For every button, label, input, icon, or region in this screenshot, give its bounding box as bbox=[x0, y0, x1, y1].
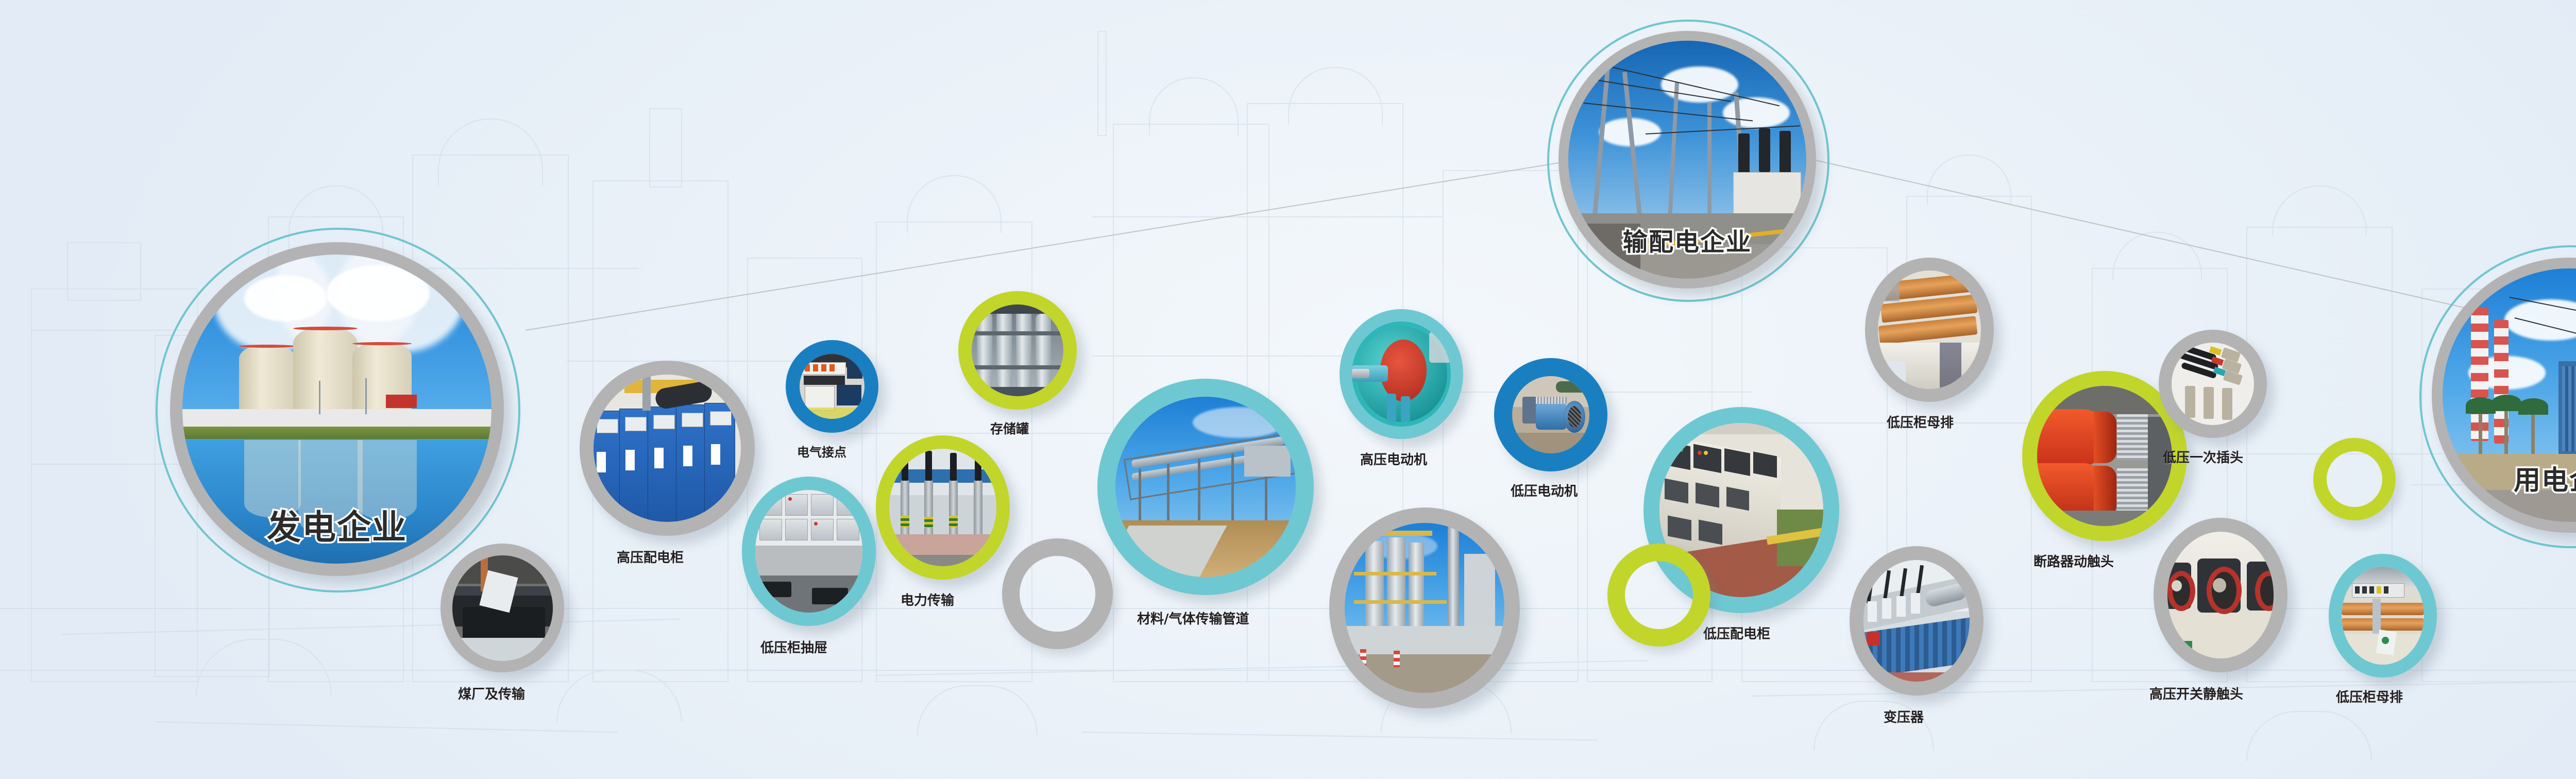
disc-lv-cabinet-drawer[interactable] bbox=[742, 477, 876, 626]
disc-lv-cabinet-busbar-a[interactable] bbox=[1865, 258, 1994, 402]
node-hv-motor[interactable]: 高压电动机 bbox=[1340, 309, 1463, 439]
node-lv-cabinet-busbar-a[interactable]: 低压柜母排 bbox=[1865, 258, 1994, 402]
photo-hv-motor bbox=[1352, 321, 1451, 427]
ring-gray-left bbox=[1002, 538, 1113, 649]
hub-label-power-consumer: 用电企业 bbox=[2514, 459, 2576, 497]
photo-lv-primary-plug bbox=[2172, 343, 2254, 425]
photo-lv-motor bbox=[1512, 376, 1589, 453]
node-transformer[interactable]: 变压器 bbox=[1850, 546, 1984, 696]
disc-material-gas-pipeline[interactable] bbox=[1097, 379, 1314, 595]
photo-chemical-plant bbox=[1345, 523, 1504, 693]
node-chemical-plant[interactable] bbox=[1329, 507, 1520, 708]
node-material-gas-pipeline[interactable]: 材料/气体传输管道 bbox=[1097, 379, 1314, 595]
label-lv-primary-plug: 低压一次插头 bbox=[2163, 447, 2243, 466]
disc-coal-plant-transport[interactable] bbox=[440, 544, 564, 672]
disc-hv-switch-static-contact[interactable] bbox=[2154, 518, 2287, 672]
node-lv-primary-plug[interactable]: 低压一次插头 bbox=[2159, 330, 2267, 438]
disc-lv-motor[interactable] bbox=[1494, 358, 1607, 471]
node-power-transmission[interactable]: 电力传输 bbox=[876, 435, 1010, 580]
disc-lv-cabinet-busbar-b[interactable] bbox=[2329, 554, 2437, 678]
node-hv-switch-static-contact[interactable]: 高压开关静触头 bbox=[2154, 518, 2287, 672]
photo-hv-static-contact bbox=[2167, 532, 2274, 658]
label-lv-motor: 低压电动机 bbox=[1511, 481, 1578, 500]
disc-storage-tank[interactable] bbox=[958, 291, 1077, 410]
photo-power-transmission bbox=[889, 449, 996, 566]
ring-green-right bbox=[2313, 438, 2396, 520]
label-material-gas-pipeline: 材料/气体传输管道 bbox=[1137, 608, 1249, 628]
photo-storage-tank bbox=[972, 304, 1063, 396]
label-hv-switchgear: 高压配电柜 bbox=[617, 547, 684, 566]
disc-hv-switchgear[interactable] bbox=[580, 361, 755, 536]
photo-lv-busbar-a bbox=[1878, 270, 1981, 389]
label-electrical-contact: 电气接点 bbox=[797, 442, 846, 460]
label-lv-cabinet-busbar-b: 低压柜母排 bbox=[2336, 687, 2403, 706]
photo-hv-switchgear bbox=[594, 375, 741, 522]
label-transformer: 变压器 bbox=[1884, 707, 1924, 726]
label-breaker-moving-contact: 断路器动触头 bbox=[2033, 551, 2114, 570]
disc-lv-primary-plug[interactable] bbox=[2159, 330, 2267, 438]
node-coal-plant-transport[interactable]: 煤厂及传输 bbox=[440, 544, 564, 672]
disc-chemical-plant[interactable] bbox=[1329, 507, 1520, 708]
ring-green-center bbox=[1607, 544, 1710, 647]
label-lv-cabinet-busbar-a: 低压柜母排 bbox=[1887, 412, 1954, 431]
photo-electrical-contact bbox=[800, 354, 865, 419]
label-lv-cabinet-drawer: 低压柜抽屉 bbox=[760, 637, 827, 656]
label-power-transmission: 电力传输 bbox=[901, 590, 954, 609]
node-storage-tank[interactable]: 存储罐 bbox=[958, 291, 1077, 410]
photo-lv-busbar-b bbox=[2342, 567, 2424, 665]
disc-electrical-contact[interactable] bbox=[786, 340, 878, 433]
node-electrical-contact[interactable]: 电气接点 bbox=[786, 340, 878, 433]
photo-lv-cabinet-drawer bbox=[755, 490, 862, 613]
node-lv-cabinet-busbar-b[interactable]: 低压柜母排 bbox=[2329, 554, 2437, 678]
node-hv-switchgear[interactable]: 高压配电柜 bbox=[580, 361, 755, 536]
photo-transformer bbox=[1863, 560, 1970, 682]
node-lv-cabinet-drawer[interactable]: 低压柜抽屉 bbox=[742, 477, 876, 626]
node-lv-motor[interactable]: 低压电动机 bbox=[1494, 358, 1607, 471]
label-hv-switch-static-contact: 高压开关静触头 bbox=[2149, 684, 2243, 703]
label-hv-motor: 高压电动机 bbox=[1360, 449, 1427, 468]
label-lv-switchgear: 低压配电柜 bbox=[1703, 623, 1770, 642]
hub-power-generation[interactable]: 发电企业 bbox=[170, 242, 504, 576]
photo-coal-conveyor bbox=[452, 555, 553, 661]
disc-transformer[interactable] bbox=[1850, 546, 1984, 696]
hub-power-consumer[interactable]: 用电企业 bbox=[2432, 258, 2576, 533]
label-coal-plant-transport: 煤厂及传输 bbox=[458, 684, 525, 703]
infographic-canvas: 发电企业 bbox=[0, 0, 2576, 779]
photo-pipeline-rack bbox=[1115, 397, 1296, 577]
disc-power-transmission[interactable] bbox=[876, 435, 1010, 580]
disc-hv-motor[interactable] bbox=[1340, 309, 1463, 439]
hub-label-transmission-distribution: 输配电企业 bbox=[1623, 222, 1752, 258]
label-storage-tank: 存储罐 bbox=[990, 419, 1029, 437]
photo-breaker-contact bbox=[2037, 386, 2172, 526]
hub-label-power-generation: 发电企业 bbox=[267, 500, 407, 549]
hub-transmission-distribution[interactable]: 输配电企业 bbox=[1558, 31, 1816, 289]
